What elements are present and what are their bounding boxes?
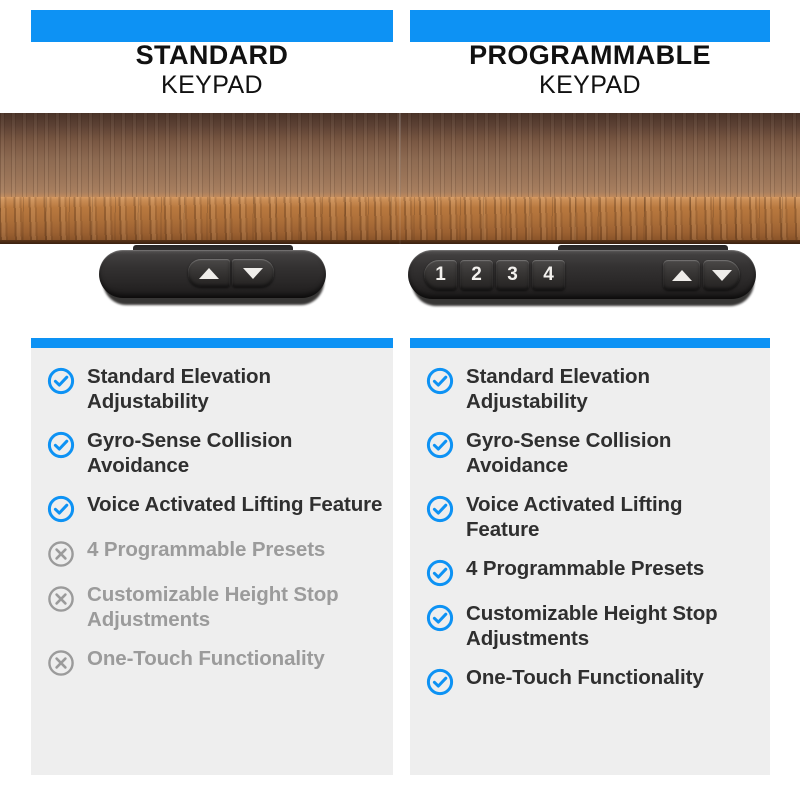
header-accent-bar-programmable xyxy=(410,10,770,42)
photo-seam-divider xyxy=(399,113,401,244)
keypad-housing: 1 2 3 4 xyxy=(408,250,756,299)
panel-accent-bar xyxy=(410,338,770,348)
feature-label: 4 Programmable Presets xyxy=(87,537,325,562)
check-circle-icon xyxy=(426,495,454,523)
feature-label: Gyro-Sense Collision Avoidance xyxy=(87,428,383,478)
preset-button-3[interactable]: 3 xyxy=(496,260,529,290)
feature-item: One-Touch Functionality xyxy=(31,646,393,677)
check-circle-icon xyxy=(426,431,454,459)
feature-panel-standard: Standard Elevation Adjustability Gyro-Se… xyxy=(31,338,393,775)
arrow-up-icon xyxy=(199,268,219,279)
x-circle-icon xyxy=(47,540,75,568)
check-circle-icon xyxy=(426,559,454,587)
feature-label: 4 Programmable Presets xyxy=(466,556,704,581)
feature-list-standard: Standard Elevation Adjustability Gyro-Se… xyxy=(31,348,393,775)
feature-item: Customizable Height Stop Adjustments xyxy=(410,601,770,651)
keypad-up-button[interactable] xyxy=(188,259,230,287)
feature-label: Standard Elevation Adjustability xyxy=(466,364,760,414)
check-circle-icon xyxy=(426,668,454,696)
feature-label: Customizable Height Stop Adjustments xyxy=(466,601,760,651)
check-circle-icon xyxy=(426,367,454,395)
feature-item: Standard Elevation Adjustability xyxy=(410,364,770,414)
arrow-down-icon xyxy=(712,270,732,281)
x-circle-icon xyxy=(47,585,75,613)
check-circle-icon xyxy=(47,431,75,459)
column-title-standard: STANDARD KEYPAD xyxy=(31,40,393,100)
feature-item: Gyro-Sense Collision Avoidance xyxy=(31,428,393,478)
feature-item: Voice Activated Lifting Feature xyxy=(31,492,393,523)
header-accent-bar-standard xyxy=(31,10,393,42)
column-title-primary: STANDARD xyxy=(31,40,393,70)
feature-panel-programmable: Standard Elevation Adjustability Gyro-Se… xyxy=(410,338,770,775)
desk-product-photo xyxy=(0,113,800,244)
keypad-down-button[interactable] xyxy=(232,259,274,287)
column-title-programmable: PROGRAMMABLE KEYPAD xyxy=(410,40,770,100)
feature-item: Customizable Height Stop Adjustments xyxy=(31,582,393,632)
arrow-down-icon xyxy=(243,268,263,279)
column-title-secondary: KEYPAD xyxy=(410,70,770,100)
check-circle-icon xyxy=(47,367,75,395)
column-title-primary: PROGRAMMABLE xyxy=(410,40,770,70)
column-title-secondary: KEYPAD xyxy=(31,70,393,100)
feature-list-programmable: Standard Elevation Adjustability Gyro-Se… xyxy=(410,348,770,775)
feature-item: 4 Programmable Presets xyxy=(31,537,393,568)
arrow-up-icon xyxy=(672,270,692,281)
feature-label: Voice Activated Lifting Feature xyxy=(466,492,760,542)
keypad-down-button[interactable] xyxy=(703,260,740,290)
standard-keypad[interactable] xyxy=(99,250,326,302)
check-circle-icon xyxy=(47,495,75,523)
preset-button-1[interactable]: 1 xyxy=(424,260,457,290)
feature-label: Customizable Height Stop Adjustments xyxy=(87,582,383,632)
comparison-infographic: STANDARD KEYPAD PROGRAMMABLE KEYPAD 1 xyxy=(0,0,800,800)
feature-label: Gyro-Sense Collision Avoidance xyxy=(466,428,760,478)
feature-label: Standard Elevation Adjustability xyxy=(87,364,383,414)
preset-button-2[interactable]: 2 xyxy=(460,260,493,290)
feature-item: Gyro-Sense Collision Avoidance xyxy=(410,428,770,478)
x-circle-icon xyxy=(47,649,75,677)
feature-item: 4 Programmable Presets xyxy=(410,556,770,587)
panel-accent-bar xyxy=(31,338,393,348)
feature-item: One-Touch Functionality xyxy=(410,665,770,696)
feature-label: One-Touch Functionality xyxy=(87,646,325,671)
feature-item: Standard Elevation Adjustability xyxy=(31,364,393,414)
feature-label: Voice Activated Lifting Feature xyxy=(87,492,382,517)
keypad-housing xyxy=(99,250,326,298)
keypad-up-button[interactable] xyxy=(663,260,700,290)
feature-item: Voice Activated Lifting Feature xyxy=(410,492,770,542)
check-circle-icon xyxy=(426,604,454,632)
feature-label: One-Touch Functionality xyxy=(466,665,704,690)
preset-button-4[interactable]: 4 xyxy=(532,260,565,290)
programmable-keypad[interactable]: 1 2 3 4 xyxy=(408,250,756,303)
